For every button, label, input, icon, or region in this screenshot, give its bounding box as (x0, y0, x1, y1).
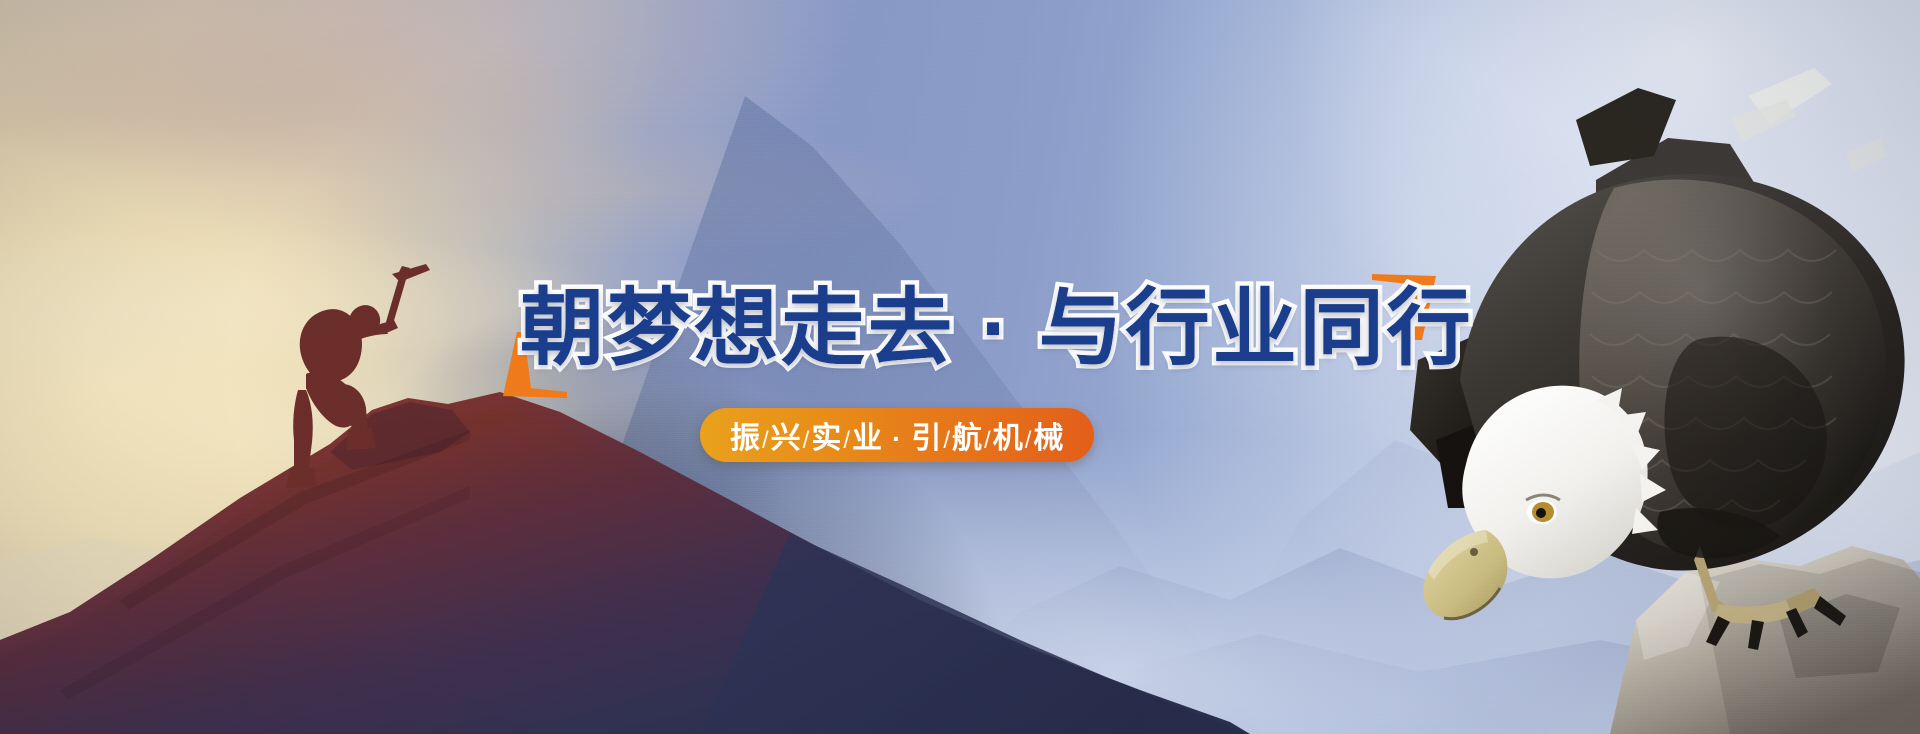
subtitle-token-word: 航 (952, 422, 983, 455)
eagle-pupil (1536, 508, 1546, 518)
climber-rear-leg (293, 390, 313, 474)
mountaineer-body (286, 264, 430, 488)
climber-rear-boot (286, 468, 316, 488)
subtitle-token-word: 引 (911, 422, 942, 455)
subtitle-token-slash: / (842, 427, 852, 454)
accent-left-svg (497, 330, 567, 400)
subtitle-token-slash: / (802, 427, 812, 454)
eagle-rock-perch (1610, 546, 1920, 734)
subtitle-token-word: 业 (852, 422, 883, 455)
accent-right-svg (1372, 272, 1442, 342)
eagle-loose-feather-3 (1846, 138, 1888, 172)
subtitle-token-word: 机 (993, 422, 1024, 455)
bald-eagle-illustration (1400, 60, 1920, 734)
subtitle-token-slash: / (942, 427, 952, 454)
bald-eagle-svg (1400, 60, 1920, 734)
hero-banner: 朝梦想走去 · 与行业同行 朝梦想走去 · 与行业同行 振/兴/实/业·引/航/… (0, 0, 1920, 734)
ice-axe-head (392, 264, 430, 282)
mountaineer-svg (250, 262, 440, 492)
subtitle-token-slash: / (761, 427, 771, 454)
subtitle-token-word: 实 (811, 422, 842, 455)
ice-axe-shaft (386, 274, 407, 324)
subtitle-text: 振/兴/实/业·引/航/机/械 (730, 413, 1064, 457)
subtitle-token-slash: / (983, 427, 993, 454)
eagle-nare (1470, 548, 1478, 556)
subtitle-token-word: 振 (730, 422, 761, 455)
ridge-dark-flank (700, 534, 1250, 734)
subtitle-pill: 振/兴/实/业·引/航/机/械 (700, 408, 1094, 462)
subtitle-token-word: 兴 (771, 422, 802, 455)
subtitle-token-word: 械 (1033, 422, 1064, 455)
climber-front-boot (346, 428, 376, 450)
mountaineer-silhouette (250, 262, 440, 492)
subtitle-token-middot: · (883, 423, 911, 454)
subtitle-token-slash: / (1024, 427, 1034, 454)
